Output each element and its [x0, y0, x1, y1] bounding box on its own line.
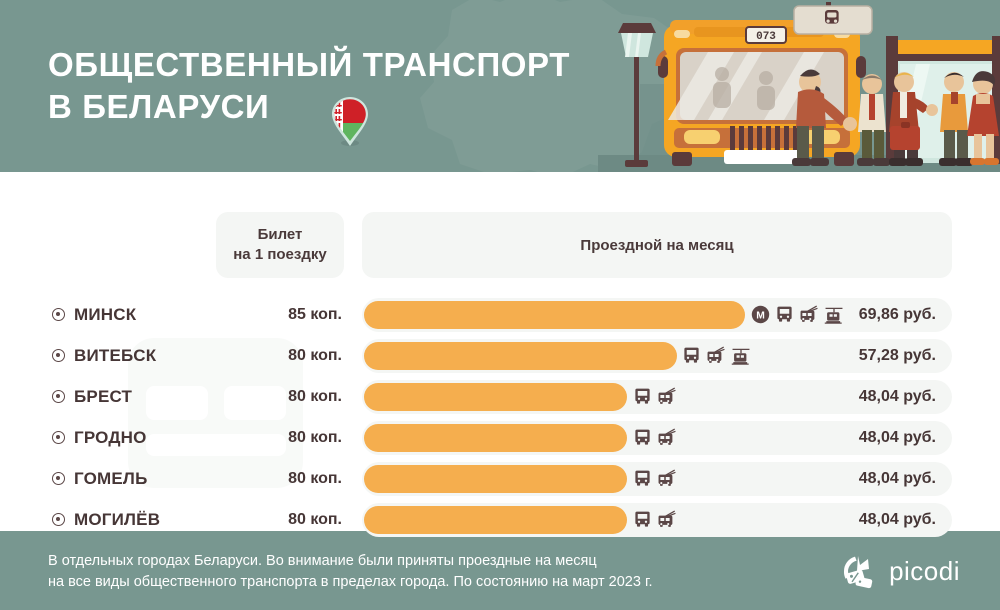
- bar-fill: [364, 301, 745, 329]
- pass-price: 57,28 руб.: [859, 347, 936, 365]
- trolleybus-icon: [657, 469, 677, 488]
- bus-icon: [633, 428, 652, 447]
- bus-icon: [633, 510, 652, 529]
- row-bullet-icon: [52, 308, 65, 321]
- ticket-price: 80 коп.: [246, 388, 342, 406]
- table-row: ГОМЕЛЬ 80 коп. 48,04 руб.: [0, 462, 1000, 496]
- pass-price: 48,04 руб.: [859, 429, 936, 447]
- transport-icons: [633, 469, 677, 488]
- bar-fill: [364, 383, 627, 411]
- bus-icon: [775, 305, 794, 324]
- row-bullet-icon: [52, 431, 65, 444]
- table-row: МИНСК 85 коп. M: [0, 298, 1000, 332]
- metro-icon: M: [751, 305, 770, 324]
- row-bullet-icon: [52, 390, 65, 403]
- street-lamp-icon: [618, 23, 656, 167]
- trolleybus-icon: [706, 346, 726, 365]
- bus-icon: [682, 346, 701, 365]
- ticket-price: 80 коп.: [246, 511, 342, 529]
- pass-price: 48,04 руб.: [859, 388, 936, 406]
- ticket-price: 80 коп.: [246, 470, 342, 488]
- ticket-price: 85 коп.: [246, 306, 342, 324]
- city-label: ГОМЕЛЬ: [74, 469, 147, 489]
- tram-icon: [824, 305, 844, 324]
- column-header-ticket: Билет на 1 поездку: [216, 212, 344, 278]
- page-title: ОБЩЕСТВЕННЫЙ ТРАНСПОРТ В БЕЛАРУСИ: [48, 44, 570, 128]
- trolleybus-icon: [657, 428, 677, 447]
- city-rows: МИНСК 85 коп. M: [0, 298, 1000, 544]
- city-label: ГРОДНО: [74, 428, 147, 448]
- bar-track: 48,04 руб.: [362, 462, 952, 496]
- bar-fill: [364, 424, 627, 452]
- picodi-logo[interactable]: picodi: [838, 551, 960, 591]
- city-label: БРЕСТ: [74, 387, 132, 407]
- city-label: МОГИЛЁВ: [74, 510, 160, 530]
- bus-icon: [633, 387, 652, 406]
- trolleybus-icon: [657, 387, 677, 406]
- row-bullet-icon: [52, 472, 65, 485]
- bus-stop-sign: [794, 2, 872, 34]
- city-label: МИНСК: [74, 305, 136, 325]
- table-row: ВИТЕБСК 80 коп.: [0, 339, 1000, 373]
- transport-icons: [682, 346, 751, 365]
- bus-route-number: 073: [756, 31, 776, 43]
- bar-track: 48,04 руб.: [362, 421, 952, 455]
- row-bullet-icon: [52, 349, 65, 362]
- footnote-text: В отдельных городах Беларуси. Во внимани…: [48, 551, 653, 593]
- header-banner: ОБЩЕСТВЕННЫЙ ТРАНСПОРТ В БЕЛАРУСИ: [0, 0, 1000, 172]
- ticket-price: 80 коп.: [246, 347, 342, 365]
- bus-stop-illustration: 073: [598, 0, 1000, 172]
- table-row: МОГИЛЁВ 80 коп. 48,04 руб.: [0, 503, 1000, 537]
- bar-track: 48,04 руб.: [362, 503, 952, 537]
- picodi-wordmark: picodi: [889, 556, 960, 587]
- transport-icons: [633, 510, 677, 529]
- svg-text:M: M: [756, 310, 765, 321]
- bus-icon: [633, 469, 652, 488]
- belarus-flag-pin-icon: [330, 96, 370, 148]
- transport-icons: [633, 428, 677, 447]
- bar-track: 57,28 руб.: [362, 339, 952, 373]
- row-bullet-icon: [52, 513, 65, 526]
- table-row: ГРОДНО 80 коп. 48,04 руб.: [0, 421, 1000, 455]
- tram-icon: [731, 346, 751, 365]
- bar-fill: [364, 342, 677, 370]
- column-header-pass: Проездной на месяц: [362, 212, 952, 278]
- pass-price: 69,86 руб.: [859, 306, 936, 324]
- city-label: ВИТЕБСК: [74, 346, 156, 366]
- ticket-price: 80 коп.: [246, 429, 342, 447]
- transport-icons: M: [751, 305, 844, 324]
- trolleybus-icon: [799, 305, 819, 324]
- picodi-cat-tag-logo: [838, 551, 880, 591]
- pass-price: 48,04 руб.: [859, 511, 936, 529]
- bar-fill: [364, 465, 627, 493]
- bar-fill: [364, 506, 627, 534]
- infographic-root: ОБЩЕСТВЕННЫЙ ТРАНСПОРТ В БЕЛАРУСИ: [0, 0, 1000, 610]
- bar-track: M 69,86 руб.: [362, 298, 952, 332]
- bar-track: 48,04 руб.: [362, 380, 952, 414]
- transport-icons: [633, 387, 677, 406]
- bus-illustration: 073: [658, 20, 866, 166]
- pass-price: 48,04 руб.: [859, 470, 936, 488]
- table-row: БРЕСТ 80 коп. 48,04 руб.: [0, 380, 1000, 414]
- trolleybus-icon: [657, 510, 677, 529]
